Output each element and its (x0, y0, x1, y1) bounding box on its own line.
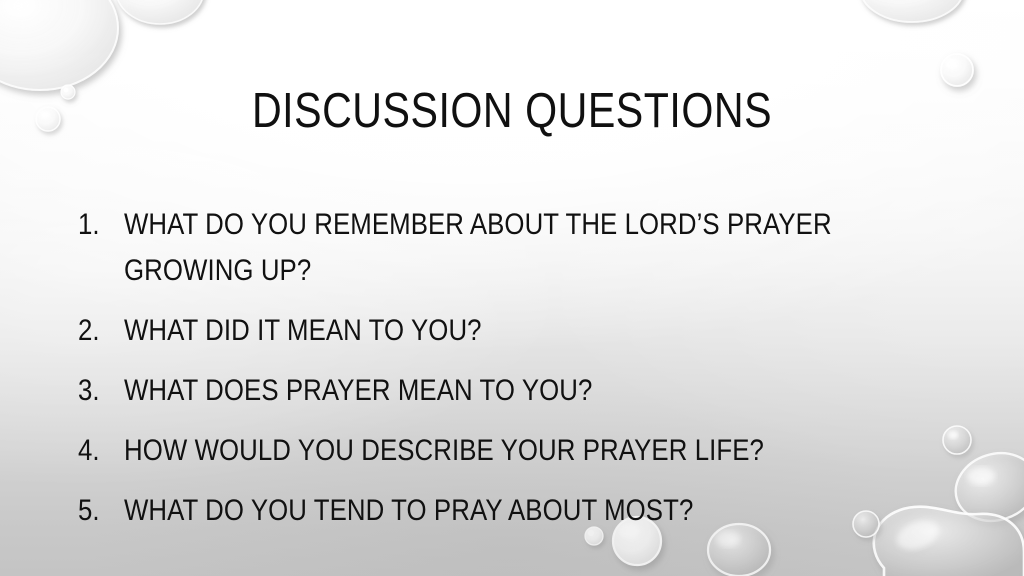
page-title: DISCUSSION QUESTIONS (82, 86, 942, 137)
list-item-label: WHAT DOES PRAYER MEAN TO YOU? (124, 368, 841, 414)
discussion-questions-list: 1. WHAT DO YOU REMEMBER ABOUT THE LORD’S… (78, 202, 958, 548)
list-item-label: WHAT DO YOU TEND TO PRAY ABOUT MOST? (124, 488, 841, 534)
list-item: 3. WHAT DOES PRAYER MEAN TO YOU? (78, 368, 958, 414)
list-item-number: 3. (78, 368, 118, 414)
list-item-number: 5. (78, 488, 118, 534)
slide-canvas: DISCUSSION QUESTIONS 1. WHAT DO YOU REME… (0, 0, 1024, 576)
list-item-label: WHAT DID IT MEAN TO YOU? (124, 308, 841, 354)
list-item-label: HOW WOULD YOU DESCRIBE YOUR PRAYER LIFE? (124, 428, 841, 474)
list-item: 2. WHAT DID IT MEAN TO YOU? (78, 308, 958, 354)
list-item: 1. WHAT DO YOU REMEMBER ABOUT THE LORD’S… (78, 202, 958, 294)
list-item-number: 4. (78, 428, 118, 474)
list-item: 5. WHAT DO YOU TEND TO PRAY ABOUT MOST? (78, 488, 958, 534)
list-item-label: WHAT DO YOU REMEMBER ABOUT THE LORD’S PR… (124, 202, 841, 294)
list-item-number: 2. (78, 308, 118, 354)
list-item: 4. HOW WOULD YOU DESCRIBE YOUR PRAYER LI… (78, 428, 958, 474)
list-item-number: 1. (78, 202, 118, 248)
